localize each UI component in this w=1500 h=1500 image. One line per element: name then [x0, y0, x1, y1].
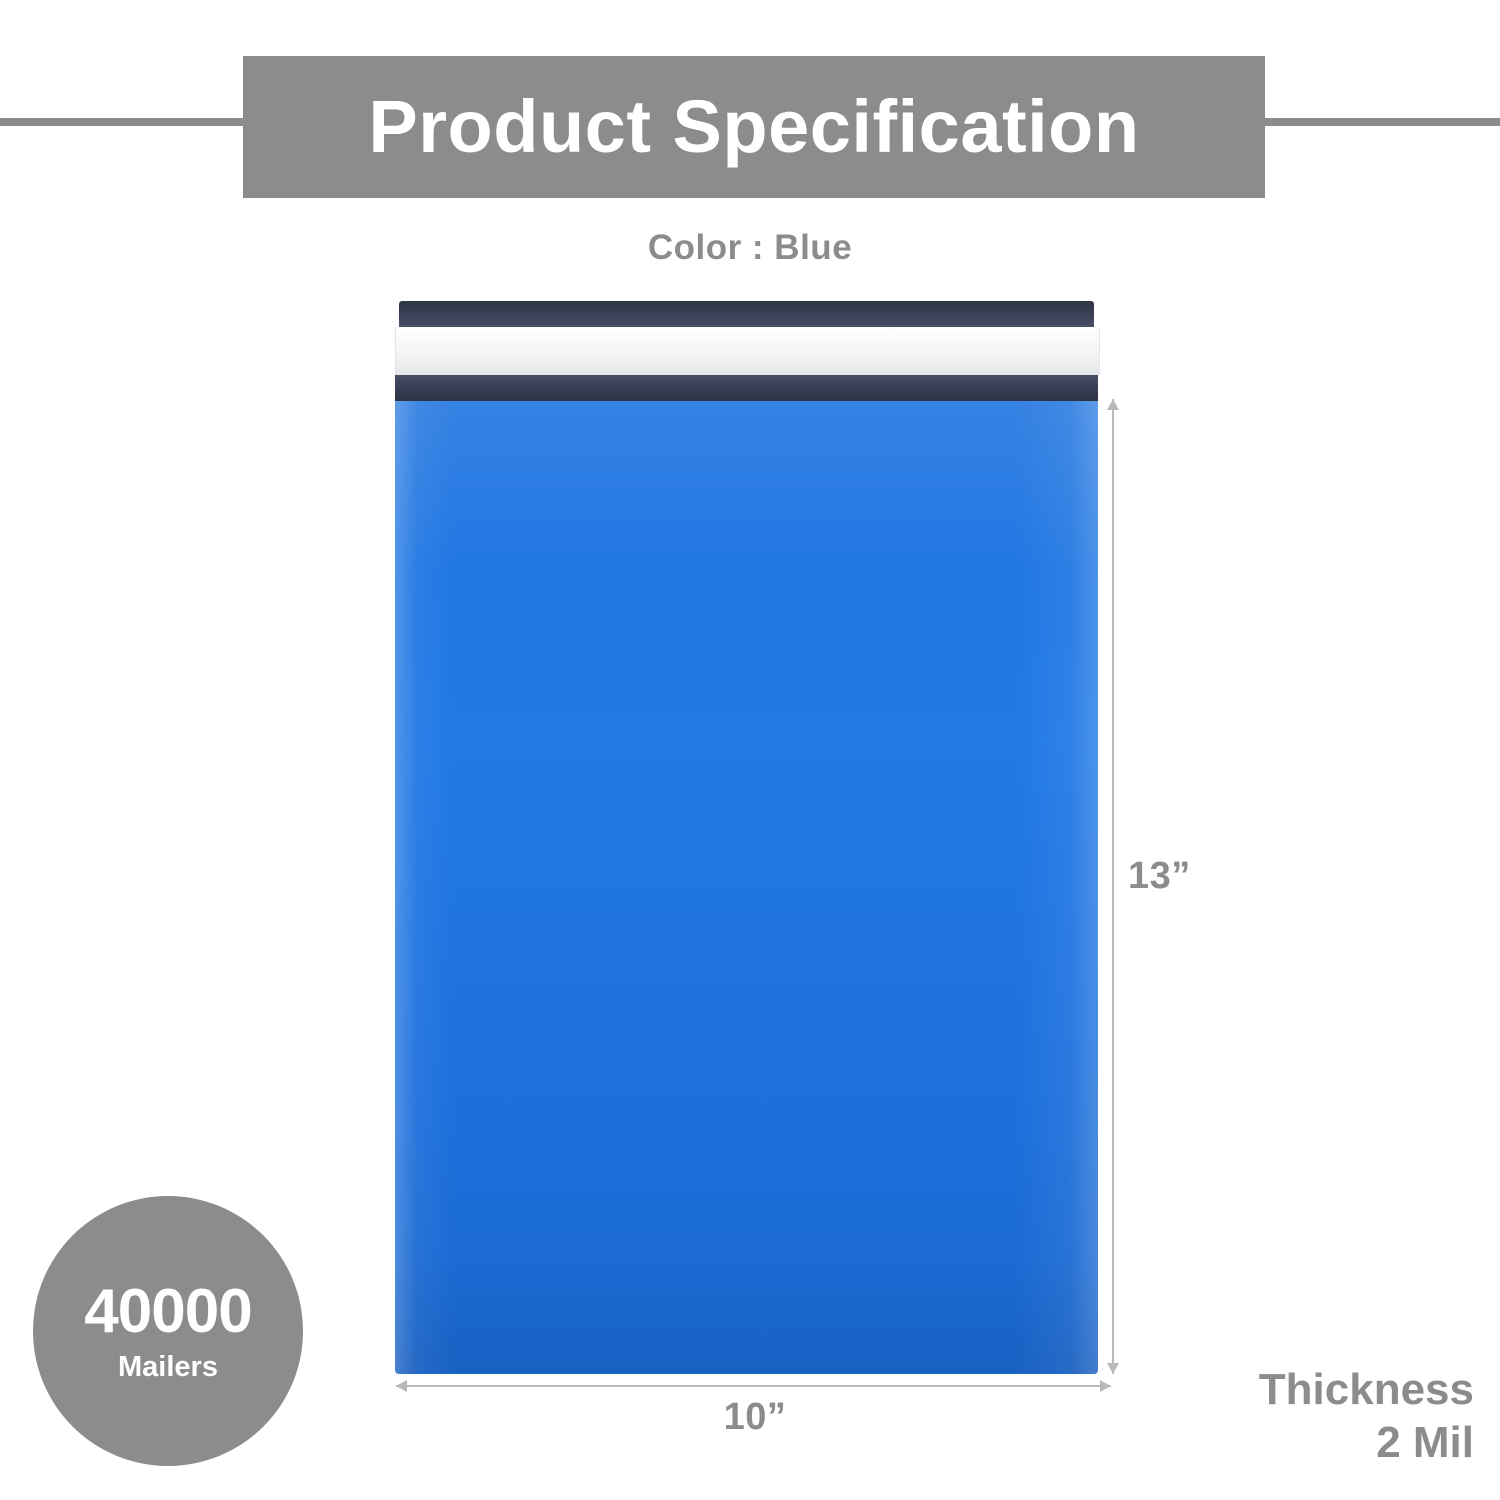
arrow-right-icon: [1100, 1380, 1111, 1392]
quantity-unit: Mailers: [118, 1353, 218, 1382]
height-dimension-label: 13”: [1128, 855, 1191, 898]
mailer-body-blue: [395, 401, 1098, 1374]
mailer-flap-top-strip: [399, 301, 1094, 327]
arrow-up-icon: [1107, 399, 1119, 410]
thickness-label: Thickness: [1259, 1363, 1474, 1417]
height-dimension-line: [1112, 399, 1114, 1374]
arrow-left-icon: [396, 1380, 407, 1392]
color-spec-label: Color : Blue: [0, 228, 1500, 268]
quantity-badge: 40000 Mailers: [33, 1196, 303, 1466]
product-image-poly-mailer: [393, 301, 1100, 1374]
mailer-flap-bottom-strip: [395, 375, 1098, 401]
width-dimension-line: [396, 1385, 1111, 1387]
mailer-body-highlight: [395, 401, 1098, 1374]
arrow-down-icon: [1107, 1363, 1119, 1374]
header-title-box: Product Specification: [243, 56, 1265, 198]
thickness-spec: Thickness 2 Mil: [1259, 1363, 1474, 1470]
mailer-adhesive-strip: [395, 327, 1100, 375]
thickness-value: 2 Mil: [1259, 1416, 1474, 1470]
page-title: Product Specification: [368, 90, 1139, 164]
quantity-value: 40000: [84, 1281, 251, 1343]
